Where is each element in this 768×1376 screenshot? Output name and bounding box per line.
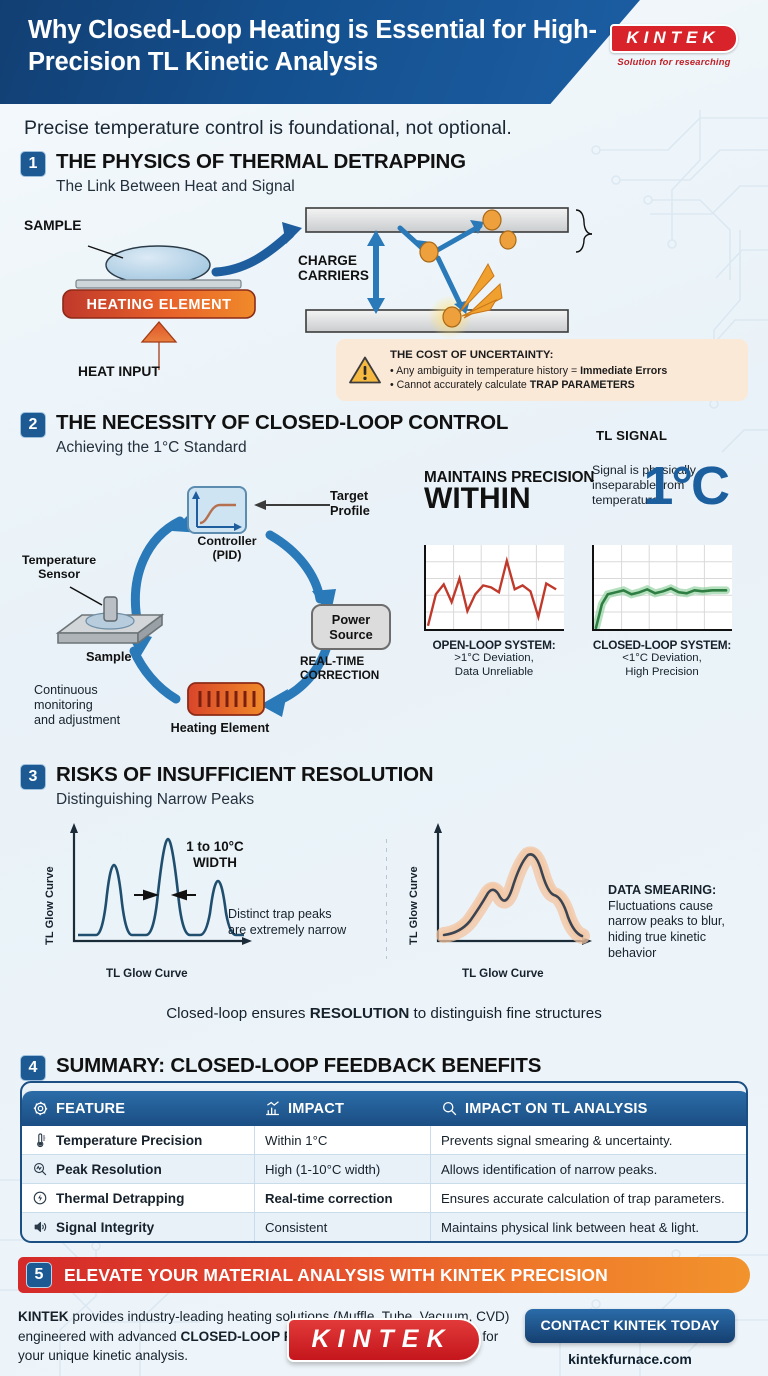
section-5-title: ELEVATE YOUR MATERIAL ANALYSIS WITH KINT… (64, 1265, 608, 1286)
thermometer-icon (32, 1132, 48, 1148)
closed-loop-chart: CLOSED-LOOP SYSTEM: <1°C Deviation, High… (592, 545, 732, 680)
smeared-glow-chart (414, 823, 604, 963)
charge-carriers-line1: CHARGE (298, 254, 369, 269)
kintek-logo-text: KINTEK (626, 29, 719, 47)
section-3-heading: 3 RISKS OF INSUFFICIENT RESOLUTION (20, 763, 768, 790)
kintek-logo-badge: KINTEK (610, 24, 737, 53)
power-source-label: Power Source (312, 613, 390, 643)
section-3-footer-post: to distinguish fine structures (409, 1005, 601, 1022)
data-smearing-title: DATA SMEARING: (608, 883, 716, 897)
open-loop-sub1: >1°C Deviation, (454, 652, 534, 664)
closed-loop-sub2: High Precision (625, 666, 698, 678)
row-analysis: Allows identification of narrow peaks. (431, 1155, 748, 1184)
infographic-page: Why Closed-Loop Heating is Essential for… (0, 0, 768, 1376)
section-2-subtitle: Achieving the 1°C Standard (56, 439, 768, 457)
peak-width-annotation: 1 to 10°C WIDTH (160, 839, 270, 871)
cta-banner: 5 ELEVATE YOUR MATERIAL ANALYSIS WITH KI… (18, 1257, 750, 1293)
open-loop-grid (426, 545, 564, 630)
continuous-line3: and adjustment (34, 713, 154, 728)
peak-width-line1: 1 to 10°C (160, 839, 270, 855)
table-row: Temperature Precision Within 1°C Prevent… (22, 1126, 748, 1155)
closed-loop-sub1: <1°C Deviation, (622, 652, 702, 664)
deviation-charts: OPEN-LOOP SYSTEM: >1°C Deviation, Data U… (424, 545, 732, 680)
section-4-number: 4 (20, 1055, 46, 1081)
smeared-ylabel: TL Glow Curve (408, 866, 420, 945)
table-header-impact: IMPACT (254, 1091, 431, 1126)
row-feature-label: Peak Resolution (56, 1162, 162, 1177)
power-source-line1: Power (312, 613, 390, 628)
sample-heating-diagram: HEATING ELEMENT (18, 210, 318, 390)
page-header: Why Closed-Loop Heating is Essential for… (0, 0, 768, 104)
open-loop-caption: OPEN-LOOP SYSTEM: >1°C Deviation, Data U… (424, 638, 564, 680)
summary-table-head: FEATURE IMPACT (22, 1091, 748, 1126)
cost-bullet-2-pre: • Cannot accurately calculate (390, 379, 530, 391)
row-impact: High (1-10°C width) (254, 1155, 431, 1184)
real-time-correction-label: REAL-TIME CORRECTION (300, 655, 379, 682)
precision-value: 1°C (643, 459, 728, 513)
target-profile-line1: Target (330, 489, 370, 504)
table-row: Signal Integrity Consistent Maintains ph… (22, 1213, 748, 1241)
closed-loop-plot (592, 545, 732, 631)
cost-bullet-2-bold: TRAP PARAMETERS (530, 379, 635, 391)
power-source-line2: Source (312, 628, 390, 643)
smeared-xlabel: TL Glow Curve (462, 967, 544, 980)
section-3-body: TL Glow Curve TL Glow Curve 1 to 10°C WI… (0, 809, 768, 1044)
row-impact: Real-time correction (254, 1184, 431, 1213)
section-3-number: 3 (20, 764, 46, 790)
closed-loop-grid (594, 545, 732, 630)
data-smearing-line1: Fluctuations cause (608, 899, 758, 915)
section-3-footer-pre: Closed-loop ensures (166, 1005, 310, 1022)
summary-table: FEATURE IMPACT (22, 1091, 748, 1241)
gear-icon (32, 1100, 49, 1117)
section-2: 2 THE NECESSITY OF CLOSED-LOOP CONTROL A… (0, 411, 768, 757)
cost-bullet-1-bold: Immediate Errors (580, 365, 667, 377)
section-1-number: 1 (20, 151, 46, 177)
temp-sensor-line1: Temperature (22, 553, 96, 567)
continuous-line2: monitoring (34, 698, 154, 713)
table-header-impact-label: IMPACT (288, 1101, 344, 1117)
row-feature: Signal Integrity (22, 1213, 254, 1241)
peak-width-line2: WIDTH (160, 855, 270, 871)
cost-bullet-1: • Any ambiguity in temperature history =… (390, 364, 667, 378)
cost-title: THE COST OF UNCERTAINTY: (390, 348, 667, 363)
footer-kintek-text: KINTEK (311, 1327, 452, 1352)
open-loop-sub2: Data Unreliable (455, 666, 534, 678)
section-3-footer-bold: RESOLUTION (310, 1005, 410, 1022)
data-smearing-line3: hiding true kinetic (608, 930, 758, 946)
table-header-row: FEATURE IMPACT (22, 1091, 748, 1126)
warning-triangle-icon (348, 355, 382, 385)
sample-stage-label: Sample (86, 649, 132, 664)
brand-logo: KINTEK Solution for researching (594, 24, 754, 67)
kintek-logo-tagline: Solution for researching (594, 56, 754, 67)
heating-element-label: Heating Element (160, 721, 280, 735)
narrow-peaks-note: Distinct trap peaks are extremely narrow (228, 907, 378, 938)
charge-carriers-line2: CARRIERS (298, 269, 369, 284)
table-header-analysis-label: IMPACT ON TL ANALYSIS (465, 1101, 648, 1117)
cost-of-uncertainty-box: THE COST OF UNCERTAINTY: • Any ambiguity… (336, 339, 748, 401)
data-smearing-line2: narrow peaks to blur, (608, 914, 758, 930)
table-row: Peak Resolution High (1-10°C width) Allo… (22, 1155, 748, 1184)
row-feature-label: Signal Integrity (56, 1220, 154, 1235)
speaker-icon (32, 1219, 48, 1235)
bolt-circle-icon (32, 1190, 48, 1206)
subheadline: Precise temperature control is foundatio… (24, 117, 768, 140)
narrow-peaks-note-line2: are extremely narrow (228, 923, 378, 939)
open-loop-chart: OPEN-LOOP SYSTEM: >1°C Deviation, Data U… (424, 545, 564, 680)
section-2-title: THE NECESSITY OF CLOSED-LOOP CONTROL (56, 411, 508, 435)
controller-label-line1: Controller (184, 535, 270, 549)
data-smearing-line4: behavior (608, 946, 758, 962)
row-impact: Within 1°C (254, 1126, 431, 1155)
row-feature-label: Thermal Detrapping (56, 1191, 184, 1206)
section-1-subtitle: The Link Between Heat and Signal (56, 178, 768, 196)
section-1-heading: 1 THE PHYSICS OF THERMAL DETRAPPING (20, 150, 768, 177)
closed-loop-caption: CLOSED-LOOP SYSTEM: <1°C Deviation, High… (592, 638, 732, 680)
continuous-line1: Continuous (34, 683, 154, 698)
section-3-footer: Closed-loop ensures RESOLUTION to distin… (0, 1005, 768, 1022)
target-profile-label: Target Profile (330, 489, 370, 518)
section-2-heading: 2 THE NECESSITY OF CLOSED-LOOP CONTROL (20, 411, 768, 438)
table-row: Thermal Detrapping Real-time correction … (22, 1184, 748, 1213)
charge-carriers-label: CHARGE CARRIERS (298, 254, 369, 284)
heat-input-label: HEAT INPUT (78, 364, 160, 379)
table-header-analysis: IMPACT ON TL ANALYSIS (431, 1091, 748, 1126)
table-header-feature-label: FEATURE (56, 1101, 125, 1117)
magnifier-icon (441, 1100, 458, 1117)
real-time-line1: REAL-TIME (300, 655, 379, 669)
section-3: 3 RISKS OF INSUFFICIENT RESOLUTION Disti… (0, 763, 768, 1044)
section-4: 4 SUMMARY: CLOSED-LOOP FEEDBACK BENEFITS (0, 1054, 768, 1243)
narrow-peaks-ylabel: TL Glow Curve (44, 866, 56, 945)
section-1-title: THE PHYSICS OF THERMAL DETRAPPING (56, 150, 466, 174)
section-1: 1 THE PHYSICS OF THERMAL DETRAPPING The … (0, 150, 768, 401)
narrow-peaks-note-line1: Distinct trap peaks (228, 907, 378, 923)
row-analysis: Maintains physical link between heat & l… (431, 1213, 748, 1241)
section-5-number: 5 (26, 1262, 52, 1288)
row-analysis: Prevents signal smearing & uncertainty. (431, 1126, 748, 1155)
section-3-title: RISKS OF INSUFFICIENT RESOLUTION (56, 763, 433, 787)
section-4-heading: 4 SUMMARY: CLOSED-LOOP FEEDBACK BENEFITS (20, 1054, 768, 1081)
section-3-subtitle: Distinguishing Narrow Peaks (56, 791, 768, 809)
row-feature-label: Temperature Precision (56, 1133, 202, 1148)
target-profile-line2: Profile (330, 504, 370, 519)
magnifier-peak-icon (32, 1161, 48, 1177)
real-time-line2: CORRECTION (300, 669, 379, 683)
summary-table-wrap: FEATURE IMPACT (0, 1081, 768, 1243)
table-header-feature: FEATURE (22, 1091, 254, 1126)
cost-bullet-1-pre: • Any ambiguity in temperature history = (390, 365, 580, 377)
footer-kintek-badge: KINTEK (287, 1318, 480, 1362)
cost-of-uncertainty-text: THE COST OF UNCERTAINTY: • Any ambiguity… (390, 348, 667, 392)
controller-label-line2: (PID) (184, 549, 270, 563)
closed-loop-title: CLOSED-LOOP SYSTEM: (592, 638, 732, 652)
row-impact: Consistent (254, 1213, 431, 1241)
open-loop-title: OPEN-LOOP SYSTEM: (424, 638, 564, 652)
footer-logo: KINTEK (0, 1318, 768, 1362)
section-4-title: SUMMARY: CLOSED-LOOP FEEDBACK BENEFITS (56, 1054, 541, 1078)
row-feature: Peak Resolution (22, 1155, 254, 1184)
svg-text:HEATING ELEMENT: HEATING ELEMENT (87, 297, 232, 313)
section-1-body: HEATING ELEMENT SAMPLE HEAT INPUT (0, 196, 768, 401)
section-3-divider (386, 839, 387, 959)
page-title: Why Closed-Loop Heating is Essential for… (28, 14, 608, 78)
summary-table-body: Temperature Precision Within 1°C Prevent… (22, 1126, 748, 1241)
section-2-body: Controller (PID) Target Profile Power So… (0, 457, 768, 757)
section-2-number: 2 (20, 412, 46, 438)
cost-bullet-2: • Cannot accurately calculate TRAP PARAM… (390, 378, 667, 392)
row-feature: Temperature Precision (22, 1126, 254, 1155)
temperature-sensor-label: Temperature Sensor (22, 553, 96, 581)
continuous-monitoring-label: Continuous monitoring and adjustment (34, 683, 154, 728)
bar-chart-icon (264, 1100, 281, 1117)
sample-label: SAMPLE (24, 218, 82, 233)
narrow-peaks-xlabel: TL Glow Curve (106, 967, 188, 980)
temp-sensor-line2: Sensor (22, 567, 96, 581)
data-smearing-note: DATA SMEARING: Fluctuations cause narrow… (608, 883, 758, 962)
row-feature: Thermal Detrapping (22, 1184, 254, 1213)
controller-label: Controller (PID) (184, 535, 270, 563)
row-analysis: Ensures accurate calculation of trap par… (431, 1184, 748, 1213)
open-loop-plot (424, 545, 564, 631)
